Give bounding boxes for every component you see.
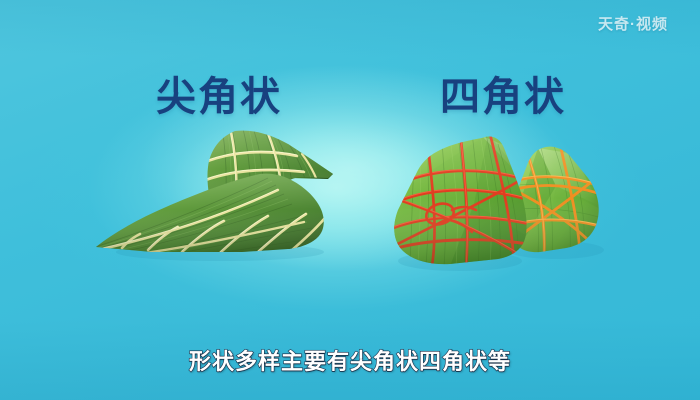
four-corner-zongzi-large xyxy=(383,126,538,271)
video-frame: 天奇·视频 尖角状 四角状 形状多样主要有尖角状四角状等 xyxy=(0,0,700,400)
caption-subtitle: 形状多样主要有尖角状四角状等 xyxy=(0,344,700,376)
heading-four-corner: 四角状 xyxy=(440,64,566,122)
pointed-cone-zongzi-illustration xyxy=(92,128,332,260)
channel-watermark: 天奇·视频 xyxy=(598,13,668,34)
four-corner-zongzi-illustration xyxy=(388,126,604,266)
heading-pointed-cone: 尖角状 xyxy=(156,64,282,122)
